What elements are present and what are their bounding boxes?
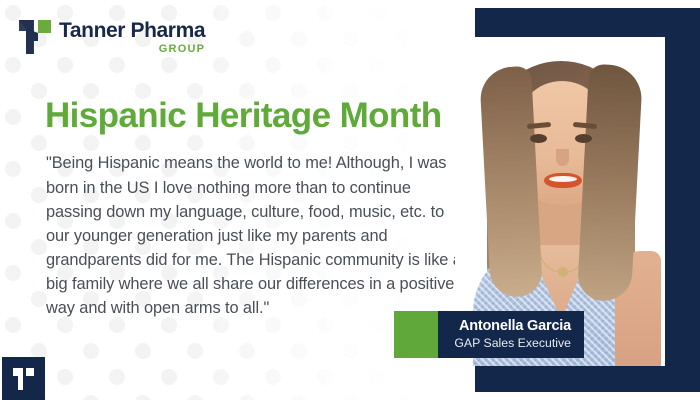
badge-person-name: Antonella Garcia bbox=[451, 318, 571, 335]
brand-wordmark: Tanner Pharma GROUP bbox=[59, 20, 205, 56]
name-badge: Antonella Garcia GAP Sales Executive bbox=[394, 311, 584, 358]
brand-name: Tanner Pharma bbox=[59, 20, 205, 41]
portrait-eye-left bbox=[530, 134, 547, 143]
tanner-t-logo-icon bbox=[17, 18, 53, 56]
portrait-nose bbox=[556, 149, 569, 166]
brand-logo: Tanner Pharma GROUP bbox=[17, 18, 205, 56]
brand-subtitle: GROUP bbox=[59, 44, 205, 55]
corner-logo-mark bbox=[2, 357, 45, 400]
slide-canvas: Tanner Pharma GROUP Hispanic Heritage Mo… bbox=[0, 0, 700, 400]
tanner-t-logo-icon bbox=[2, 357, 45, 400]
portrait-pendant bbox=[558, 267, 568, 277]
badge-person-role: GAP Sales Executive bbox=[451, 336, 571, 351]
quote-text: "Being Hispanic means the world to me! A… bbox=[46, 151, 466, 320]
badge-accent-block bbox=[394, 311, 438, 358]
page-title: Hispanic Heritage Month bbox=[45, 97, 475, 136]
badge-text-block: Antonella Garcia GAP Sales Executive bbox=[438, 311, 584, 358]
portrait-teeth bbox=[549, 176, 577, 182]
portrait-eye-right bbox=[575, 134, 592, 143]
